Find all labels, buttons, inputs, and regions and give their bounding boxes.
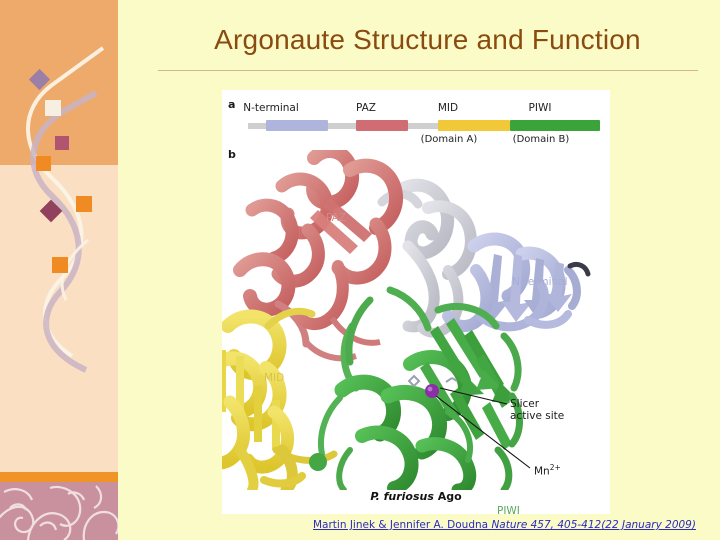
argonaute-ribbon-structure: PAZ N-terminal MID PIWI Slicer active si… [222, 150, 610, 490]
sidebar-marker-square-orange [52, 257, 68, 273]
caption-suffix: Ago [434, 490, 462, 503]
domain-label-paz: PAZ [330, 102, 402, 114]
mn-ion-sphere [425, 384, 439, 398]
sidebar-marker-square-orange [76, 196, 92, 212]
sidebar-marker-square-orange [36, 156, 51, 171]
mn-ion-label-text: Mn [534, 466, 550, 478]
sidebar-ribbon-curves [0, 0, 118, 472]
figure-panel: a N-terminal PAZ MID PIWI (Domain A) (Do… [222, 90, 610, 514]
sidebar-marker-square-cream [45, 100, 61, 116]
caption-species: P. furiosus [370, 490, 434, 503]
sidebar-divider-bar [0, 472, 118, 482]
slicer-active-site-label: Slicer active site [510, 398, 564, 422]
slicer-label-line1: Slicer [510, 398, 564, 410]
decorative-sidebar [0, 0, 118, 540]
paz-label: PAZ [326, 212, 346, 224]
domain-sublabel-mid: (Domain A) [404, 134, 494, 145]
sidebar-paisley-band [0, 482, 118, 540]
citation-authors: Martin Jinek & Jennifer A. Doudna [313, 519, 491, 531]
citation-journal: Nature 457, 405-412(22 January 2009) [491, 519, 696, 531]
sidebar-marker-square-magenta [55, 136, 69, 150]
mn-ion-charge: 2+ [550, 463, 561, 472]
slide-canvas: Argonaute Structure and Function a N-ter… [0, 0, 720, 540]
piwi-domain-ribbons [309, 290, 520, 490]
page-title: Argonaute Structure and Function [150, 24, 705, 56]
domain-label-n-terminal: N-terminal [236, 102, 306, 114]
domain-segment-n-terminal [266, 120, 328, 131]
domain-sublabel-piwi: (Domain B) [496, 134, 586, 145]
domain-architecture-bar [248, 120, 600, 131]
slicer-label-line2: active site [510, 410, 564, 422]
figure-caption: P. furiosus Ago [222, 490, 610, 503]
citation-link[interactable]: Martin Jinek & Jennifer A. Doudna Nature… [313, 519, 696, 531]
n-terminal-label: N-terminal [512, 276, 568, 288]
mid-label: MID [264, 372, 284, 384]
mn-ion-label: Mn2+ [534, 463, 561, 478]
paz-domain-ribbons [240, 151, 396, 358]
domain-segment-mid [438, 120, 510, 131]
domain-label-piwi: PIWI [504, 102, 576, 114]
panel-a-letter: a [228, 98, 235, 111]
domain-segment-paz [356, 120, 408, 131]
piwi-label: PIWI [497, 505, 520, 517]
title-underline-rule [158, 70, 698, 71]
domain-label-mid: MID [412, 102, 484, 114]
domain-segment-piwi [510, 120, 600, 131]
